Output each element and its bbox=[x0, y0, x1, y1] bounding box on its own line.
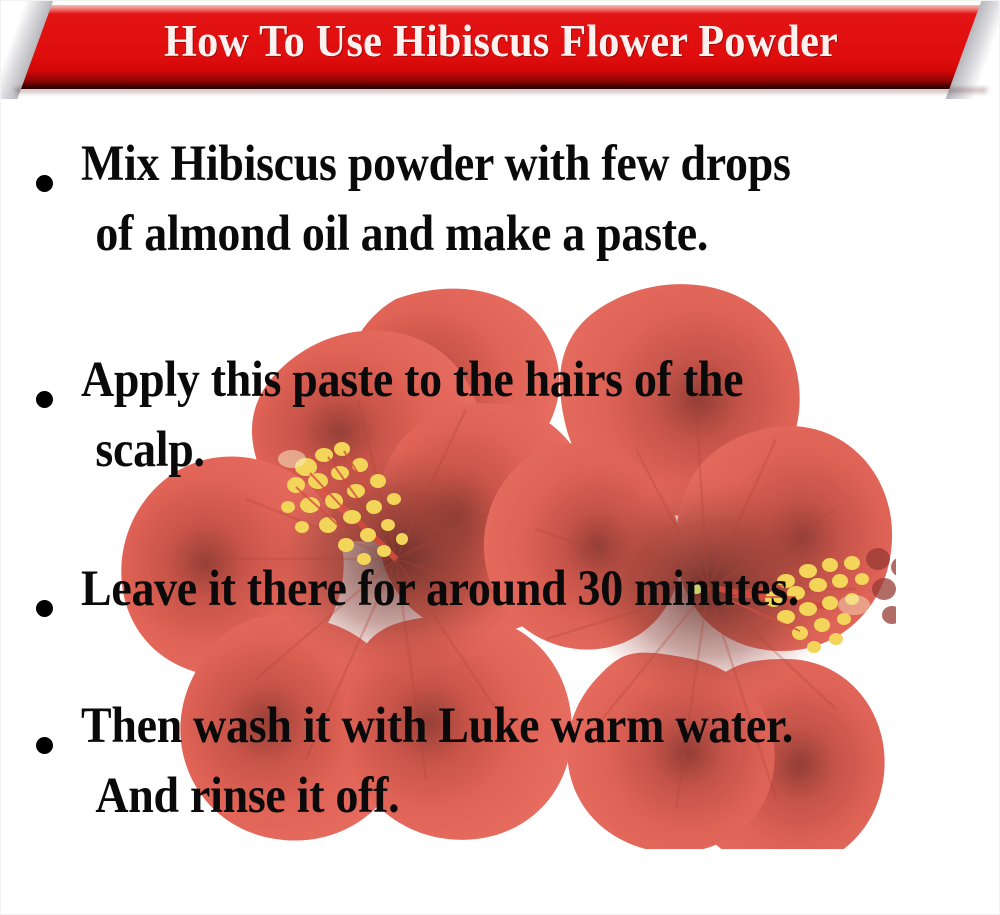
bullet-dot-icon bbox=[36, 175, 53, 192]
list-item-line: Leave it there for around 30 minutes. bbox=[81, 554, 900, 624]
bullet-dot-icon bbox=[36, 391, 53, 408]
list-item-line: And rinse it off. bbox=[81, 761, 900, 831]
list-item-line: of almond oil and make a paste. bbox=[81, 199, 900, 269]
list-item-line: Then wash it with Luke warm water. bbox=[81, 691, 900, 761]
list-item-line: Mix Hibiscus powder with few drops bbox=[81, 129, 900, 199]
list-item-text: Then wash it with Luke warm water. And r… bbox=[81, 691, 991, 831]
list-item-text: Mix Hibiscus powder with few drops of al… bbox=[81, 129, 991, 269]
list-item-text: Apply this paste to the hairs of the sca… bbox=[81, 345, 991, 485]
page-title: How To Use Hibiscus Flower Powder bbox=[31, 1, 971, 85]
bullet-dot-icon bbox=[36, 737, 53, 754]
bullet-dot-icon bbox=[36, 600, 53, 617]
list-item-text: Leave it there for around 30 minutes. bbox=[81, 554, 991, 624]
list-item-line: Apply this paste to the hairs of the bbox=[81, 345, 900, 415]
banner-drop-shadow bbox=[15, 88, 987, 95]
header-banner: How To Use Hibiscus Flower Powder bbox=[1, 1, 1000, 99]
list-item-line: scalp. bbox=[81, 415, 900, 485]
instruction-list: Mix Hibiscus powder with few drops of al… bbox=[1, 99, 1000, 915]
poster-canvas: How To Use Hibiscus Flower Powder bbox=[0, 0, 1000, 915]
